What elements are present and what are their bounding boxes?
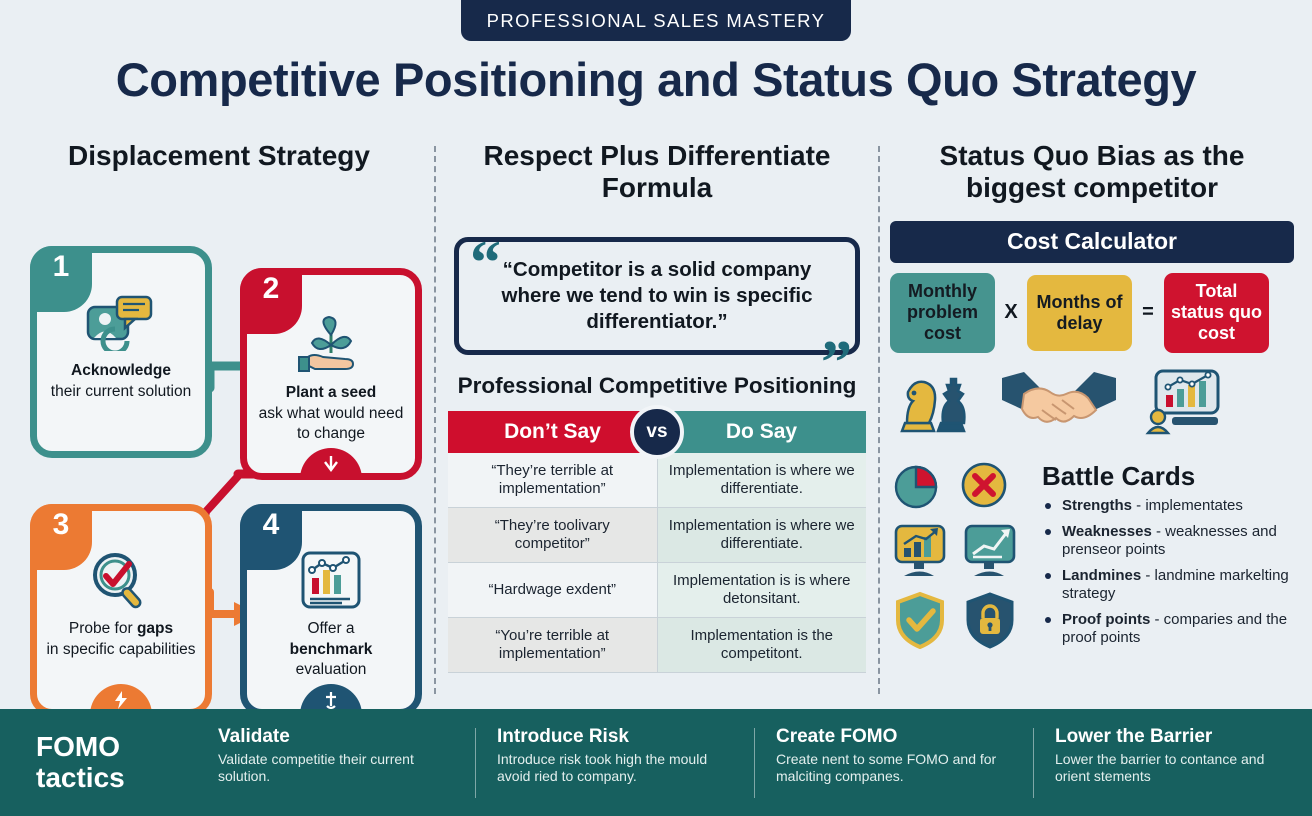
shield-lock-icon: [962, 591, 1018, 654]
chess-pieces-icon: [890, 365, 974, 446]
step-card-1-rest: their current solution: [51, 383, 191, 400]
cell-dont-say: “Hardwage exdent”: [448, 563, 658, 617]
calc-operator-equals: =: [1138, 301, 1158, 324]
step-card-2-bold: Plant a seed: [286, 384, 376, 401]
quote-box: “Competitor is a solid company where we …: [454, 237, 860, 355]
cell-do-say: Implementation is the competitont.: [658, 618, 867, 672]
user-chat-icon: [37, 287, 205, 357]
right-lower-section: Battle Cards Strengths - implementates W…: [890, 365, 1294, 665]
fomo-label-line1: FOMO: [36, 732, 196, 762]
cell-do-say: Implementation is where we differentiate…: [658, 508, 867, 562]
table-row: “They’re terrible at implementation” Imp…: [448, 453, 866, 508]
column-respect-differentiate: Respect Plus Differentiate Formula “ “Co…: [448, 140, 866, 673]
right-column-heading: Status Quo Bias as the biggest competito…: [890, 140, 1294, 205]
calc-operator-multiply: X: [1001, 301, 1021, 324]
calc-box-monthly-problem-cost: Monthly problem cost: [890, 273, 995, 353]
quote-close-icon: ”: [821, 345, 852, 382]
fomo-tile-text: Lower the barrier to contance and orient…: [1055, 751, 1290, 786]
battle-desc: - implementates: [1132, 497, 1243, 514]
list-item: Weaknesses - weaknesses and prenseor poi…: [1042, 523, 1294, 559]
fomo-tile-lower-the-barrier[interactable]: Lower the Barrier Lower the barrier to c…: [1033, 726, 1312, 800]
battle-cards-title: Battle Cards: [1042, 461, 1294, 492]
presentation-chart-icon: [1144, 367, 1222, 444]
table-row: “Hardwage exdent” Implementation is is w…: [448, 563, 866, 618]
fomo-tile-title: Introduce Risk: [497, 726, 732, 748]
icon-grid: [892, 459, 1032, 662]
quote-text: “Competitor is a solid company where we …: [459, 257, 855, 334]
quote-block: “ “Competitor is a solid company where w…: [448, 215, 866, 355]
list-item: Strengths - implementates: [1042, 497, 1294, 515]
step-cards-group: 1 Acknowledge their current solution: [18, 186, 420, 706]
step-card-1[interactable]: 1 Acknowledge their current solution: [30, 246, 212, 458]
step-card-3-rest: in specific capabilities: [46, 641, 195, 658]
left-column-heading: Displacement Strategy: [18, 140, 420, 172]
battle-term: Proof points: [1062, 611, 1150, 628]
shield-check-icon: [892, 591, 948, 654]
table-row: “They’re toolivary competitor” Implement…: [448, 508, 866, 563]
icon-row-top: [890, 365, 1222, 446]
step-card-4-rest: evaluation: [296, 661, 367, 678]
cost-calculator-title: Cost Calculator: [890, 221, 1294, 263]
battle-term: Strengths: [1062, 497, 1132, 514]
battle-term: Weaknesses: [1062, 523, 1152, 540]
step-card-4[interactable]: 4 Offer a benchmark: [240, 504, 422, 716]
column-header-dont-say: Don’t Say: [448, 411, 657, 453]
cell-dont-say: “You’re terrible at implementation”: [448, 618, 658, 672]
pie-chart-icon: [892, 459, 944, 516]
line-chart-monitor-icon: [962, 524, 1018, 583]
fomo-tactics-bar: FOMO tactics Validate Validate competiti…: [0, 709, 1312, 816]
page-title: Competitive Positioning and Status Quo S…: [0, 52, 1312, 107]
step-card-2[interactable]: 2 Plant a seed ask what would need to ch…: [240, 268, 422, 480]
middle-column-heading: Respect Plus Differentiate Formula: [448, 140, 866, 205]
battle-term: Landmines: [1062, 567, 1141, 584]
comparison-table-header: Don’t Say Do Say vs: [448, 411, 866, 453]
chart-report-icon: [247, 545, 415, 615]
fomo-tile-introduce-risk[interactable]: Introduce Risk Introduce risk took high …: [475, 726, 754, 800]
step-card-4-pre: Offer a: [307, 620, 354, 637]
vs-badge: vs: [630, 405, 684, 459]
cell-dont-say: “They’re toolivary competitor”: [448, 508, 658, 562]
magnifier-check-icon: [37, 545, 205, 615]
column-header-do-say: Do Say: [657, 411, 866, 453]
fomo-tile-create-fomo[interactable]: Create FOMO Create nent to some FOMO and…: [754, 726, 1033, 800]
step-card-2-text: Plant a seed ask what would need to chan…: [253, 383, 409, 444]
fomo-tile-text: Validate competitie their current soluti…: [218, 751, 453, 786]
calc-box-total-status-quo-cost: Total status quo cost: [1164, 273, 1269, 353]
column-status-quo-bias: Status Quo Bias as the biggest competito…: [890, 140, 1294, 665]
step-card-4-text: Offer a benchmark evaluation: [253, 619, 409, 680]
calc-box-months-of-delay: Months of delay: [1027, 275, 1132, 351]
fomo-tile-text: Create nent to some FOMO and for malciti…: [776, 751, 1011, 786]
step-card-3-text: Probe for gaps in specific capabilities: [43, 619, 199, 660]
hand-seedling-icon: [247, 309, 415, 379]
fomo-label-line2: tactics: [36, 763, 196, 793]
step-card-3[interactable]: 3 Probe for gaps in specific capabilitie…: [30, 504, 212, 716]
x-circle-icon: [958, 459, 1010, 516]
comparison-table-title: Professional Competitive Positioning: [448, 373, 866, 399]
comparison-table: Don’t Say Do Say vs “They’re terrible at…: [448, 411, 866, 673]
fomo-tile-validate[interactable]: Validate Validate competitie their curre…: [196, 726, 475, 800]
step-card-3-pre: Probe for: [69, 620, 137, 637]
column-divider-right: [878, 146, 880, 694]
step-card-2-rest: ask what would need to change: [259, 405, 404, 442]
cost-calculator-row: Monthly problem cost X Months of delay =…: [890, 273, 1294, 353]
cell-dont-say: “They’re terrible at implementation”: [448, 453, 658, 507]
battle-cards-block: Battle Cards Strengths - implementates W…: [1042, 461, 1294, 655]
column-divider-left: [434, 146, 436, 694]
step-card-2-tab-icon: [300, 448, 362, 480]
bar-chart-monitor-icon: [892, 524, 948, 583]
column-displacement-strategy: Displacement Strategy 1: [18, 140, 420, 706]
table-row: “You’re terrible at implementation” Impl…: [448, 618, 866, 673]
top-badge-label: PROFESSIONAL SALES MASTERY: [487, 10, 826, 32]
fomo-tile-title: Lower the Barrier: [1055, 726, 1290, 748]
cell-do-say: Implementation is where we differentiate…: [658, 453, 867, 507]
list-item: Landmines - landmine markelting strategy: [1042, 567, 1294, 603]
step-card-1-bold: Acknowledge: [71, 362, 171, 379]
battle-cards-list: Strengths - implementates Weaknesses - w…: [1042, 497, 1294, 647]
cell-do-say: Implementation is is where detonsitant.: [658, 563, 867, 617]
step-card-4-bold: benchmark: [290, 641, 373, 658]
fomo-tile-title: Create FOMO: [776, 726, 1011, 748]
step-card-3-bold: gaps: [137, 620, 173, 637]
fomo-tile-title: Validate: [218, 726, 453, 748]
top-badge: PROFESSIONAL SALES MASTERY: [461, 0, 851, 41]
handshake-icon: [1000, 368, 1118, 443]
step-card-1-text: Acknowledge their current solution: [43, 361, 199, 402]
list-item: Proof points - comparies and the proof p…: [1042, 611, 1294, 647]
fomo-tile-text: Introduce risk took high the mould avoid…: [497, 751, 732, 786]
fomo-label: FOMO tactics: [0, 732, 196, 792]
